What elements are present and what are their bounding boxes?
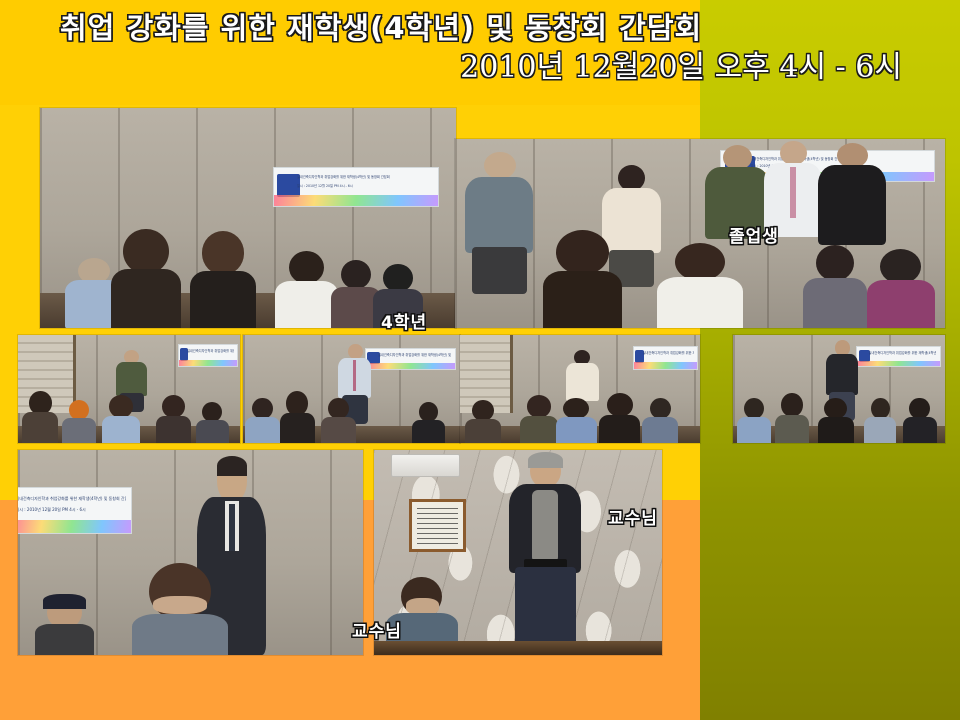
in-photo-banner-line2: 일시 : 2010년 12월 20일 PM 4시 - 6시 [297, 183, 432, 189]
slide-title-block: 취업 강화를 위한 재학생(4학년) 및 동창회 간담회 2010년 12월20… [0, 14, 940, 87]
photo-graduates-standing: 실내건축디자인학과 취업강화를 위한 재학생(4학년) 및 동창회 간담회 일시… [455, 139, 945, 328]
in-photo-banner-line1: 실내건축디자인학과 취업강화를 위한 재학생(4학년) 및 동창회 간담회 [643, 350, 695, 356]
photo-man-with-tie: 실내건축디자인학과 취업강화를 위한 재학생(4학년) 및 동창회 간담회 [243, 335, 460, 443]
in-photo-banner-line1: 실내건축디자인학과 취업강화를 위한 재학생(4학년) 및 동창회 간담회 [297, 174, 432, 180]
in-photo-banner-line1: 실내건축디자인학과 취업강화를 위한 재학생(4학년) 및 동창회 간담회 [869, 350, 937, 356]
in-photo-banner-line2: 일시 : 2010년 12월 20일 PM 4시 - 6시 [18, 506, 126, 514]
photo-seminar-room-wide: 실내건축디자인학과 취업강화를 위한 재학생(4학년) 및 동창회 간담회 일시… [40, 108, 456, 328]
photo-woman-speaking: 실내건축디자인학과 취업강화를 위한 재학생(4학년) 및 동창회 간담회 [460, 335, 700, 443]
photo-professor-jacket [374, 450, 662, 655]
in-photo-banner-line1: 실내건축디자인학과 취업강화를 위한 재학생(4학년) 및 동창회 간담회 [187, 348, 235, 354]
in-photo-banner-line1: 실내건축디자인학과 취업강화를 위한 재학생(4학년) 및 동창회 간담회 [18, 495, 126, 503]
callout-professor-1: 교수님 [352, 617, 402, 642]
callout-graduates: 졸업생 [729, 222, 779, 247]
callout-4th-year: 4학년 [381, 308, 427, 333]
photo-alumnus-speaking: 실내건축디자인학과 취업강화를 위한 재학생(4학년) 및 동창회 간담회 [733, 335, 945, 443]
slide-title-datetime: 2010년 12월20일 오후 4시 - 6시 [0, 49, 940, 87]
slide-title-main: 취업 강화를 위한 재학생(4학년) 및 동창회 간담회 [0, 14, 940, 43]
photo-professor-suit: 실내건축디자인학과 취업강화를 위한 재학생(4학년) 및 동창회 간담회 일시… [18, 450, 363, 655]
presentation-slide: 취업 강화를 위한 재학생(4학년) 및 동창회 간담회 2010년 12월20… [0, 0, 960, 720]
callout-professor-2: 교수님 [608, 504, 658, 529]
photo-student-speaking: 실내건축디자인학과 취업강화를 위한 재학생(4학년) 및 동창회 간담회 [18, 335, 240, 443]
in-photo-banner-line1: 실내건축디자인학과 취업강화를 위한 재학생(4학년) 및 동창회 간담회 [378, 352, 451, 358]
